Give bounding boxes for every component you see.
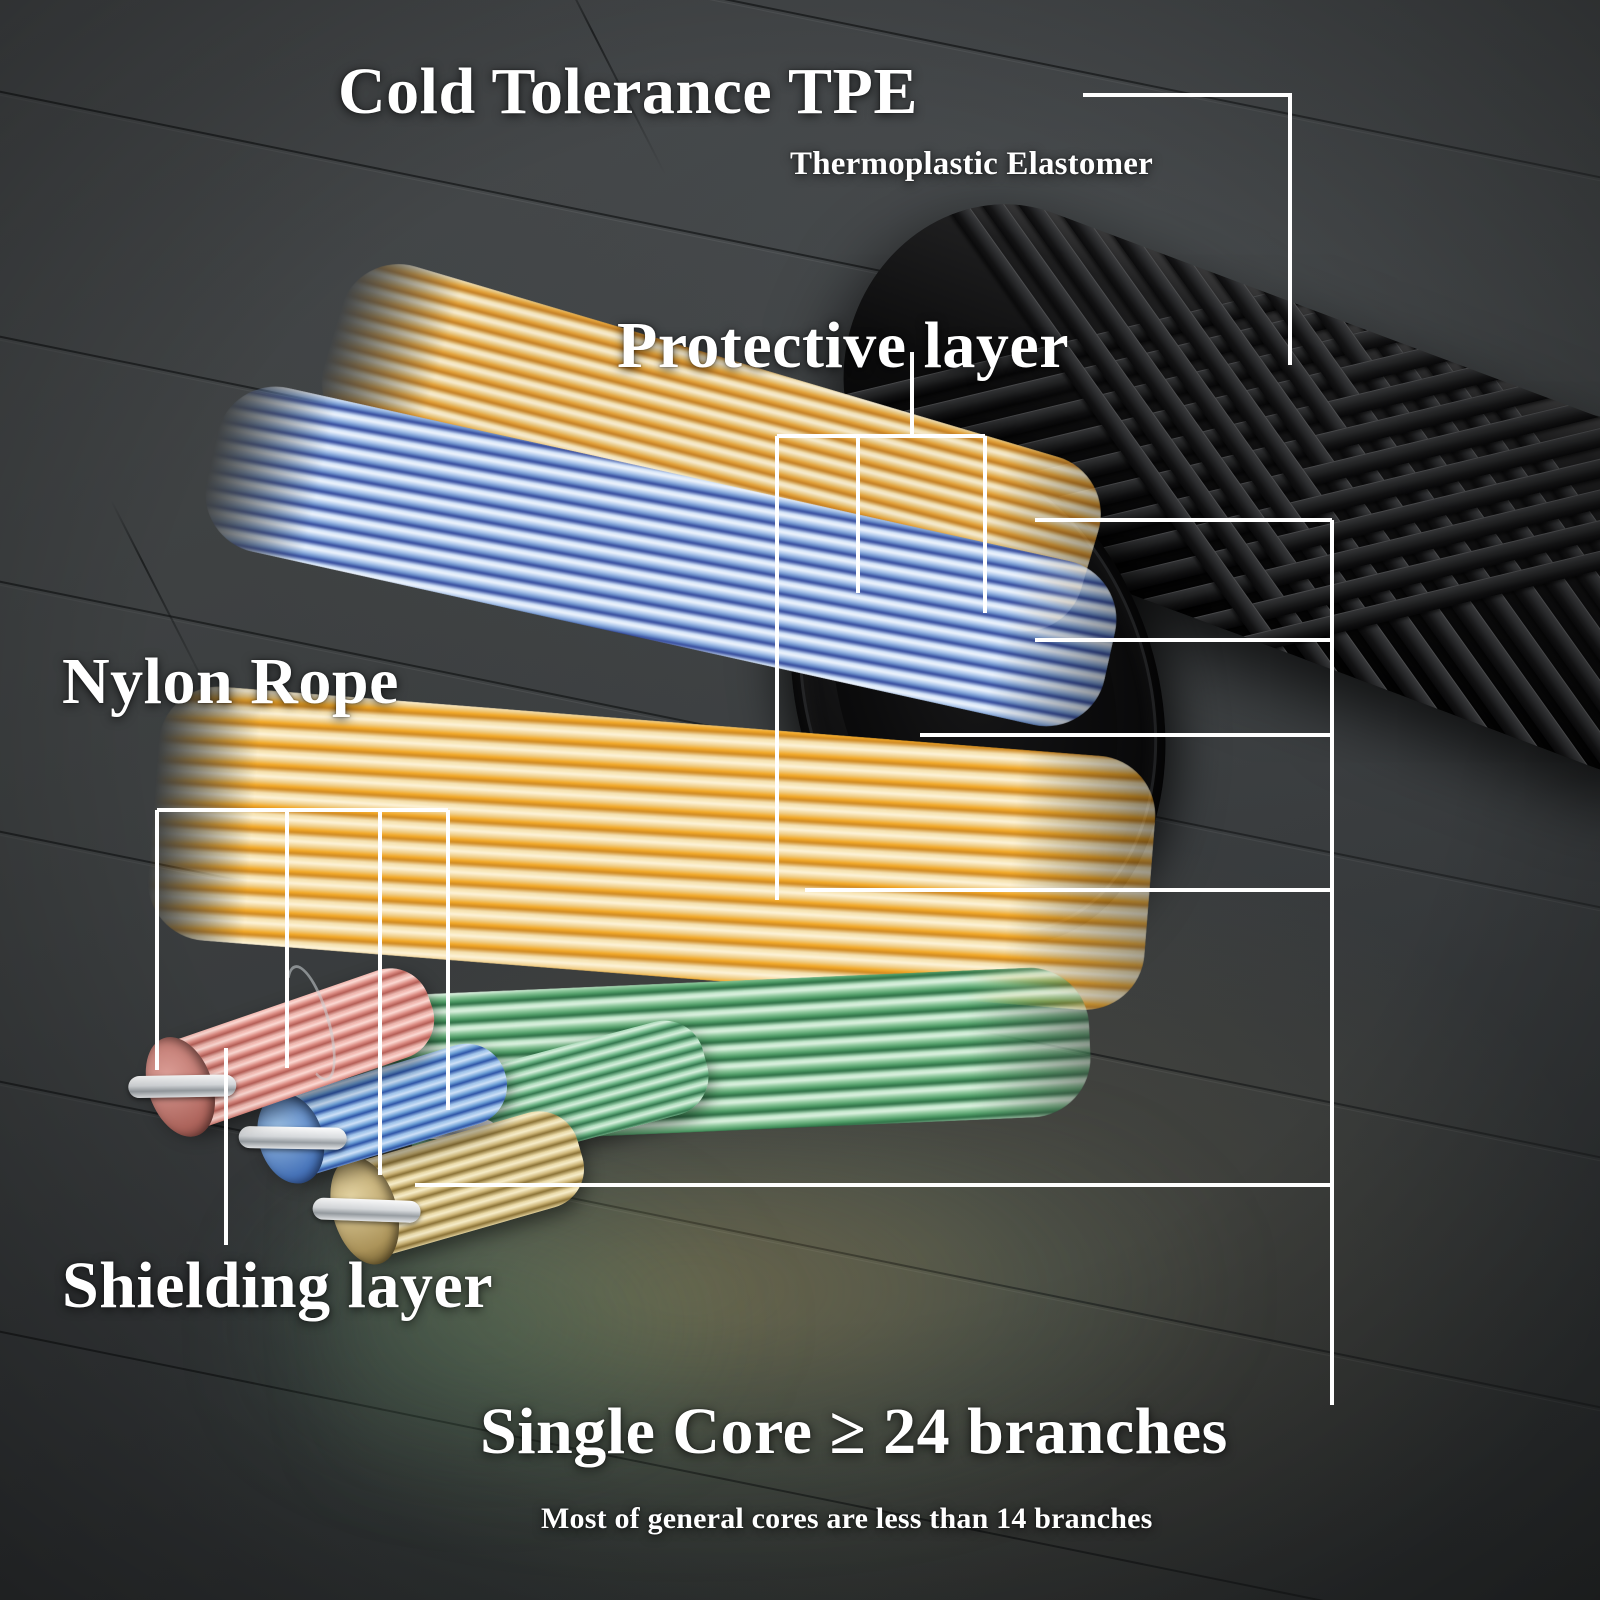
label-single-core-subtitle: Most of general cores are less than 14 b… [541, 1502, 1153, 1536]
label-cold-tolerance-tpe-subtitle: Thermoplastic Elastomer [790, 146, 1153, 183]
tan-bundle-core [312, 1197, 421, 1223]
label-protective-layer: Protective layer [617, 312, 1069, 379]
label-cold-tolerance-tpe: Cold Tolerance TPE [338, 58, 918, 125]
cable-illustration [0, 0, 1600, 1600]
blue-bundle-core [239, 1126, 347, 1150]
infographic-canvas: Cold Tolerance TPE Thermoplastic Elastom… [0, 0, 1600, 1600]
label-single-core: Single Core ≥ 24 branches [480, 1398, 1228, 1465]
label-shielding-layer: Shielding layer [62, 1252, 493, 1319]
label-nylon-rope: Nylon Rope [62, 648, 399, 715]
conductor-bundle-group [0, 0, 1600, 1600]
red-bundle-core [128, 1074, 236, 1098]
